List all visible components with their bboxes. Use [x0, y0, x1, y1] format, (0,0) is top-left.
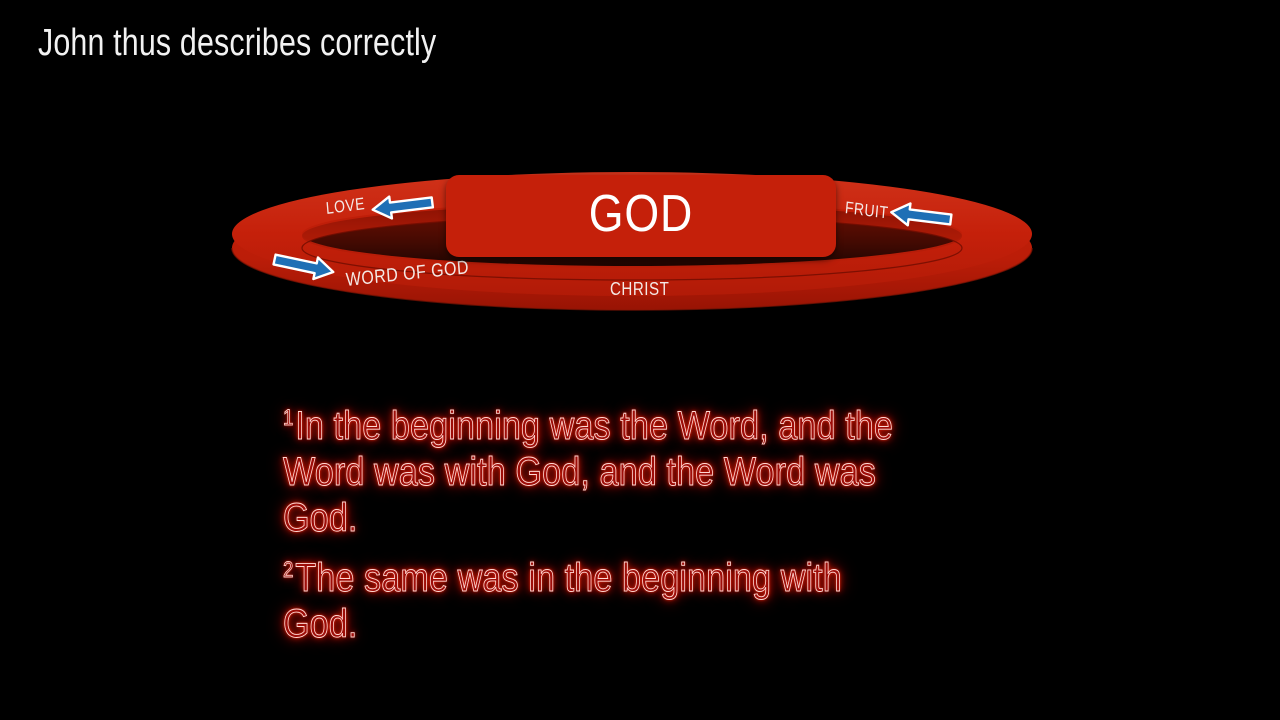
page-title: John thus describes correctly — [38, 22, 436, 65]
verse-number-1: 1 — [283, 405, 295, 430]
verse-text-1: In the beginning was the Word, and the W… — [283, 404, 893, 540]
scripture-block: 1In the beginning was the Word, and the … — [283, 403, 1023, 647]
god-box-label: GOD — [473, 175, 808, 257]
verse-number-2: 2 — [283, 557, 295, 582]
ring-label-christ: CHRIST — [610, 279, 669, 300]
verse-line-2: 2The same was in the beginning with God. — [283, 555, 1023, 647]
verse-text-2: The same was in the beginning with God. — [283, 556, 842, 646]
god-center-box: GOD — [446, 175, 836, 257]
slide-canvas: John thus describes correctly — [0, 0, 1280, 720]
verse-line-1: 1In the beginning was the Word, and the … — [283, 403, 1023, 541]
